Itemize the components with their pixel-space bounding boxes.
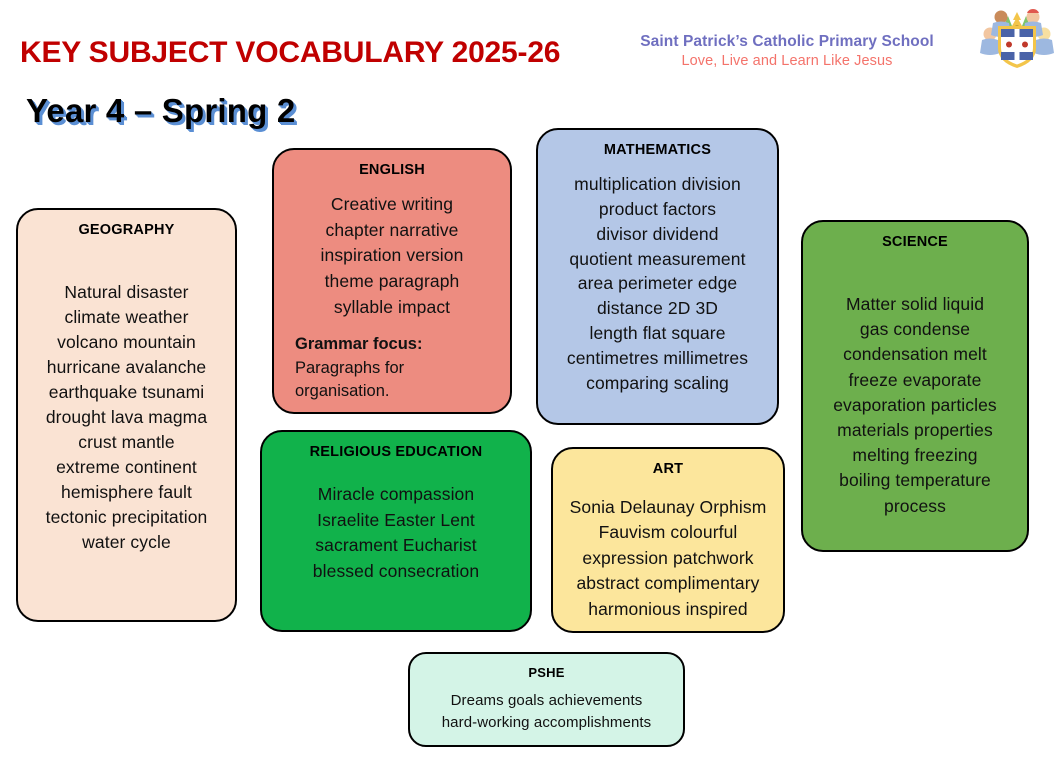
- word-line: process: [811, 494, 1019, 519]
- subject-card-mathematics: MATHEMATICS multiplication division prod…: [536, 128, 779, 425]
- word-line: extreme continent: [26, 455, 227, 480]
- word-line: Natural disaster: [26, 280, 227, 305]
- word-list-mathematics: multiplication division product factors …: [546, 172, 769, 396]
- word-line: Matter solid liquid: [811, 292, 1019, 317]
- word-line: water cycle: [26, 530, 227, 555]
- card-title-pshe: PSHE: [418, 665, 675, 680]
- word-line: boiling temperature: [811, 468, 1019, 493]
- word-line: comparing scaling: [546, 371, 769, 396]
- subject-card-religious-education: RELIGIOUS EDUCATION Miracle compassion I…: [260, 430, 532, 632]
- card-title-mathematics: MATHEMATICS: [546, 142, 769, 158]
- grammar-focus-block: Grammar focus: Paragraphs for organisati…: [282, 333, 502, 405]
- word-line: Miracle compassion: [270, 482, 522, 508]
- word-line: distance 2D 3D: [546, 296, 769, 321]
- grammar-focus-text: Paragraphs for: [295, 357, 502, 381]
- word-list-english: Creative writing chapter narrative inspi…: [282, 192, 502, 321]
- word-line: syllable impact: [282, 295, 502, 321]
- grammar-focus-label: Grammar focus:: [295, 333, 502, 357]
- card-title-science: SCIENCE: [811, 234, 1019, 250]
- word-line: drought lava magma: [26, 405, 227, 430]
- school-crest-icon: [978, 8, 1056, 70]
- word-list-art: Sonia Delaunay Orphism Fauvism colourful…: [561, 495, 775, 622]
- word-line: earthquake tsunami: [26, 380, 227, 405]
- word-line: hurricane avalanche: [26, 355, 227, 380]
- word-line: product factors: [546, 197, 769, 222]
- word-line: crust mantle: [26, 430, 227, 455]
- subject-card-geography: GEOGRAPHY Natural disaster climate weath…: [16, 208, 237, 622]
- word-line: hemisphere fault: [26, 480, 227, 505]
- word-line: volcano mountain: [26, 330, 227, 355]
- word-line: theme paragraph: [282, 269, 502, 295]
- subject-card-pshe: PSHE Dreams goals achievements hard-work…: [408, 652, 685, 747]
- school-name: Saint Patrick’s Catholic Primary School: [612, 33, 962, 51]
- card-title-religious-education: RELIGIOUS EDUCATION: [270, 444, 522, 460]
- subject-card-english: ENGLISH Creative writing chapter narrati…: [272, 148, 512, 414]
- word-line: expression patchwork: [561, 546, 775, 571]
- word-line: centimetres millimetres: [546, 346, 769, 371]
- school-motto: Love, Live and Learn Like Jesus: [612, 53, 962, 69]
- word-line: Creative writing: [282, 192, 502, 218]
- word-line: tectonic precipitation: [26, 505, 227, 530]
- word-line: length flat square: [546, 321, 769, 346]
- word-line: quotient measurement: [546, 247, 769, 272]
- year-term-subtitle: Year 4 – Spring 2: [26, 92, 295, 130]
- word-line: divisor dividend: [546, 222, 769, 247]
- word-line: blessed consecration: [270, 559, 522, 585]
- word-line: sacrament Eucharist: [270, 533, 522, 559]
- word-line: condensation melt: [811, 342, 1019, 367]
- page-title: KEY SUBJECT VOCABULARY 2025-26: [20, 36, 560, 70]
- word-list-pshe: Dreams goals achievements hard-working a…: [418, 690, 675, 734]
- word-line: inspiration version: [282, 243, 502, 269]
- word-line: Dreams goals achievements: [418, 690, 675, 712]
- card-title-english: ENGLISH: [282, 162, 502, 178]
- word-line: freeze evaporate: [811, 368, 1019, 393]
- word-line: climate weather: [26, 305, 227, 330]
- card-title-art: ART: [561, 461, 775, 477]
- word-line: area perimeter edge: [546, 271, 769, 296]
- word-list-religious-education: Miracle compassion Israelite Easter Lent…: [270, 482, 522, 584]
- grammar-focus-text: organisation.: [295, 380, 502, 404]
- word-list-science: Matter solid liquid gas condense condens…: [811, 292, 1019, 519]
- word-line: chapter narrative: [282, 218, 502, 244]
- word-line: gas condense: [811, 317, 1019, 342]
- subject-card-science: SCIENCE Matter solid liquid gas condense…: [801, 220, 1029, 552]
- school-branding: Saint Patrick’s Catholic Primary School …: [612, 33, 962, 69]
- word-line: materials properties: [811, 418, 1019, 443]
- word-line: melting freezing: [811, 443, 1019, 468]
- word-line: Israelite Easter Lent: [270, 508, 522, 534]
- word-line: evaporation particles: [811, 393, 1019, 418]
- word-line: harmonious inspired: [561, 597, 775, 622]
- word-line: Sonia Delaunay Orphism: [561, 495, 775, 520]
- word-line: hard-working accomplishments: [418, 712, 675, 734]
- vocabulary-poster: KEY SUBJECT VOCABULARY 2025-26 Year 4 – …: [0, 0, 1063, 763]
- subject-card-art: ART Sonia Delaunay Orphism Fauvism colou…: [551, 447, 785, 633]
- word-line: abstract complimentary: [561, 571, 775, 596]
- word-line: multiplication division: [546, 172, 769, 197]
- word-list-geography: Natural disaster climate weather volcano…: [26, 280, 227, 555]
- card-title-geography: GEOGRAPHY: [26, 222, 227, 238]
- word-line: Fauvism colourful: [561, 520, 775, 545]
